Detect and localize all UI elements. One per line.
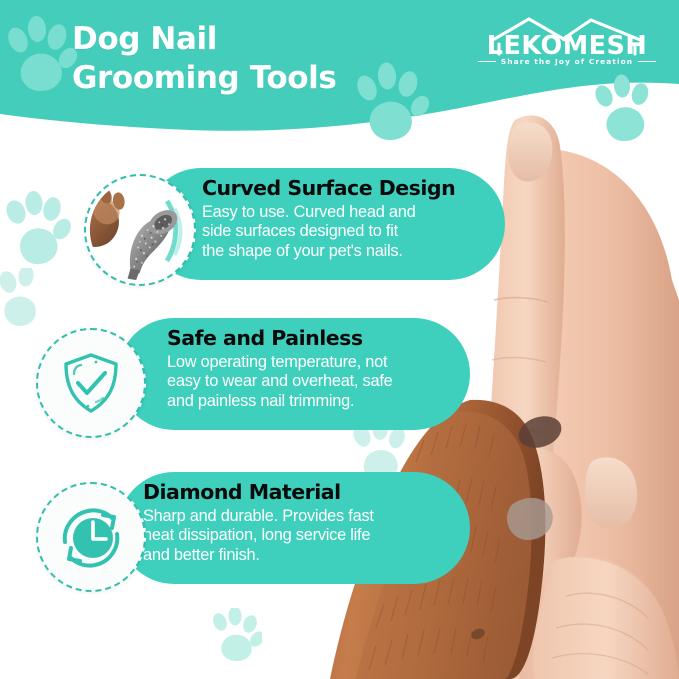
paw-print-header-right <box>592 74 658 144</box>
paw-print-left-lower <box>0 268 40 328</box>
feature-title-1: Curved Surface Design <box>202 176 502 200</box>
logo-tagline: Share the Joy of Creation <box>501 57 633 66</box>
feature-description-2: Low operating temperature, not easy to w… <box>167 353 467 411</box>
paw-print-bottom-center <box>210 608 262 662</box>
page-title: Dog Nail Grooming Tools <box>72 20 336 98</box>
paw-print-left-upper <box>2 190 72 272</box>
shield-check-icon <box>58 350 124 416</box>
brand-logo: LEKOMESH Share the Joy of Creation <box>477 14 657 80</box>
tagline-rule-right <box>638 61 656 62</box>
feature-icon-3-circle <box>36 482 146 592</box>
feature-icon-1-circle <box>84 174 196 286</box>
paw-print-header-left <box>4 16 78 96</box>
paw-print-header-mid <box>352 62 430 144</box>
feature-text-1: Curved Surface Design Easy to use. Curve… <box>202 176 502 261</box>
lekomesh-wordmark-icon: LEKOMESH <box>477 14 657 56</box>
logo-tagline-row: Share the Joy of Creation <box>477 57 657 66</box>
infographic-poster: Dog Nail Grooming Tools LEKOMESH Share t… <box>0 0 679 679</box>
feature-icon-2-circle <box>36 328 146 438</box>
feature-title-2: Safe and Painless <box>167 326 467 350</box>
feature-title-3: Diamond Material <box>143 480 463 504</box>
svg-text:LEKOMESH: LEKOMESH <box>487 31 647 56</box>
clock-refresh-icon <box>56 502 126 572</box>
tagline-rule-left <box>478 61 496 62</box>
feature-text-2: Safe and Painless Low operating temperat… <box>167 326 467 411</box>
feature-description-3: Sharp and durable. Provides fast heat di… <box>143 507 463 565</box>
product-photo-grinder-bit <box>86 176 194 284</box>
feature-text-3: Diamond Material Sharp and durable. Prov… <box>143 480 463 565</box>
feature-description-1: Easy to use. Curved head and side surfac… <box>202 203 502 261</box>
